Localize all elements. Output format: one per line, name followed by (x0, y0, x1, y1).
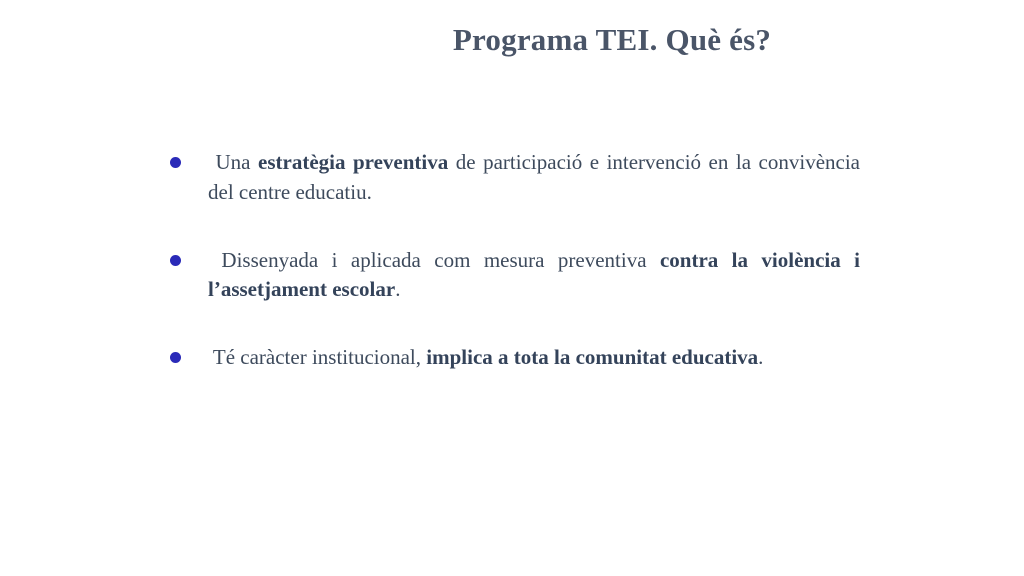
bullet-marker (170, 343, 208, 363)
page-title: Programa TEI. Què és? (262, 22, 962, 58)
body-text: Una (216, 150, 259, 174)
list-item-text: Una estratègia preventiva de participaci… (208, 148, 860, 208)
emphasis-text: estratègia preventiva (258, 150, 448, 174)
bullet-marker (170, 148, 208, 168)
list-item-text: Té caràcter institucional, implica a tot… (208, 343, 860, 373)
list-item-text: Dissenyada i aplicada com mesura prevent… (208, 246, 860, 306)
bullet-dot-icon (170, 157, 181, 168)
body-text: . (758, 345, 763, 369)
list-item: Té caràcter institucional, implica a tot… (170, 343, 860, 373)
leading-space (208, 150, 216, 174)
bullet-marker (170, 246, 208, 266)
list-item: Una estratègia preventiva de participaci… (170, 148, 860, 208)
bullet-dot-icon (170, 352, 181, 363)
list-item: Dissenyada i aplicada com mesura prevent… (170, 246, 860, 306)
body-text: Dissenyada i aplicada com mesura prevent… (221, 248, 660, 272)
body-text: . (395, 277, 400, 301)
bullet-dot-icon (170, 255, 181, 266)
slide-canvas: Programa TEI. Què és? Una estratègia pre… (0, 0, 1024, 576)
bullet-list: Una estratègia preventiva de participaci… (170, 148, 860, 373)
body-text: Té caràcter institucional, (213, 345, 426, 369)
leading-space (208, 248, 221, 272)
emphasis-text: implica a tota la comunitat educativa (426, 345, 758, 369)
